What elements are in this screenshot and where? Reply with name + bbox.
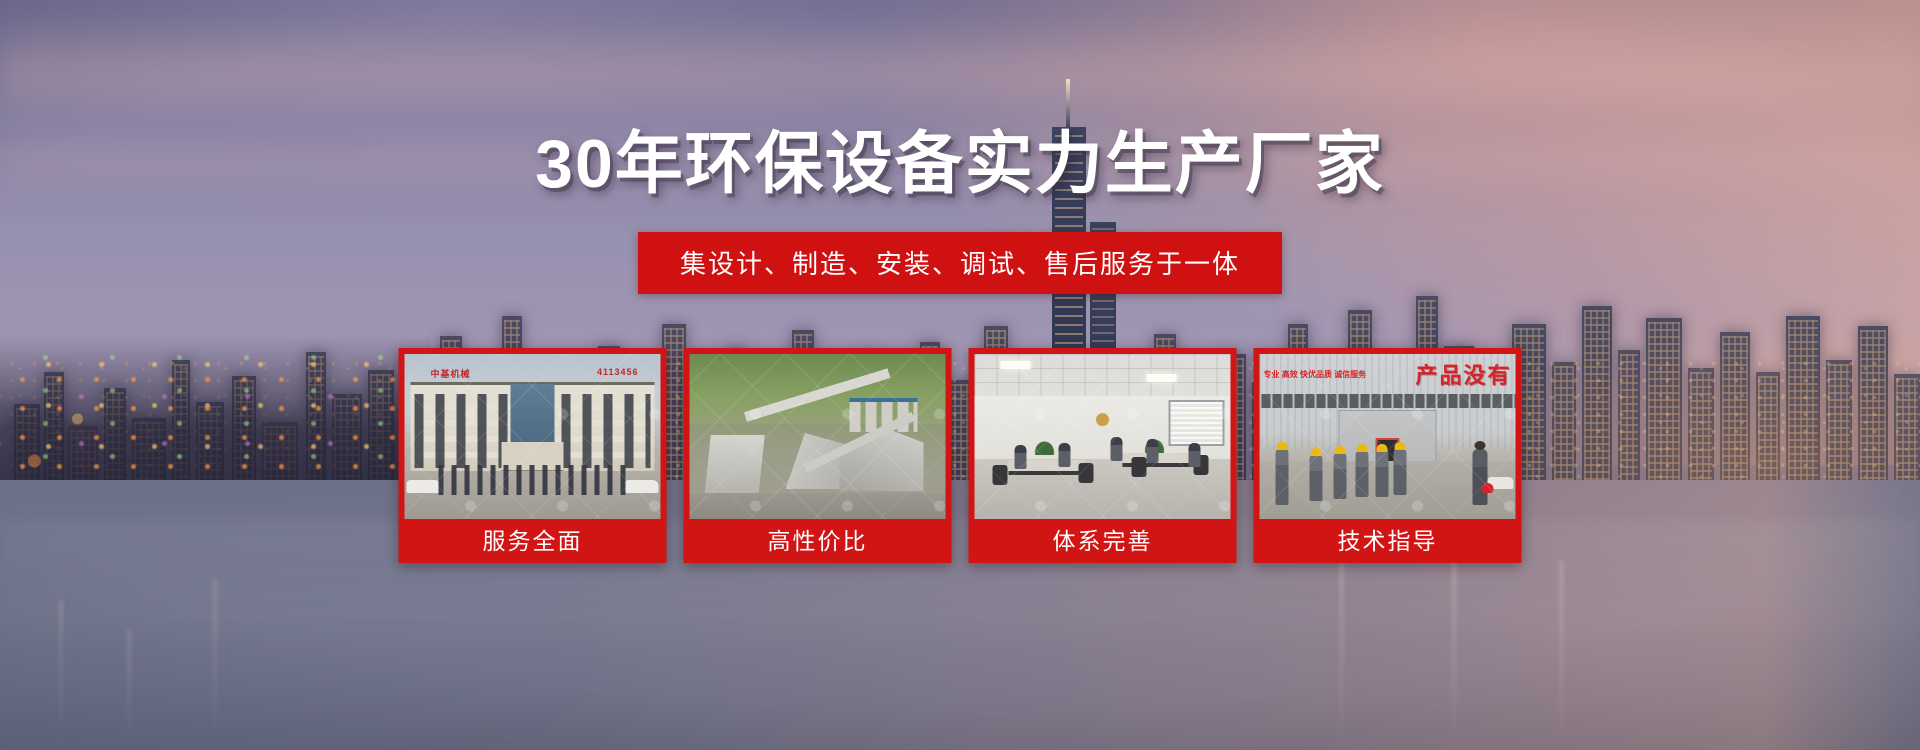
feature-card-guidance[interactable]: 专业 高效 快优品质 诚信服务 产品没有 bbox=[1254, 348, 1522, 563]
feature-card-row: 中基机械 4113456 服务全面 bbox=[399, 348, 1522, 563]
card-label: 体系完善 bbox=[975, 519, 1231, 563]
building-signage: 中基机械 bbox=[431, 367, 471, 380]
building-phone: 4113456 bbox=[597, 367, 639, 377]
card-label: 高性价比 bbox=[690, 519, 946, 563]
feature-card-system[interactable]: 体系完善 bbox=[969, 348, 1237, 563]
card-label: 服务全面 bbox=[405, 519, 661, 563]
factory-wall-subtext: 专业 高效 快优品质 诚信服务 bbox=[1264, 370, 1367, 379]
page-title: 30年环保设备实力生产厂家 bbox=[0, 108, 1920, 207]
feature-card-service[interactable]: 中基机械 4113456 服务全面 bbox=[399, 348, 667, 563]
photo-company-building: 中基机械 4113456 bbox=[405, 354, 661, 519]
photo-factory-workers: 专业 高效 快优品质 诚信服务 产品没有 bbox=[1260, 354, 1516, 519]
hero-banner: 30年环保设备实力生产厂家 集设计、制造、安装、调试、售后服务于一体 中基机械 … bbox=[0, 0, 1920, 750]
card-label: 技术指导 bbox=[1260, 519, 1516, 563]
photo-industrial-plant bbox=[690, 354, 946, 519]
feature-card-value[interactable]: 高性价比 bbox=[684, 348, 952, 563]
photo-office-interior bbox=[975, 354, 1231, 519]
factory-wall-text: 产品没有 bbox=[1415, 358, 1511, 390]
subtitle-banner: 集设计、制造、安装、调试、售后服务于一体 bbox=[638, 232, 1282, 294]
